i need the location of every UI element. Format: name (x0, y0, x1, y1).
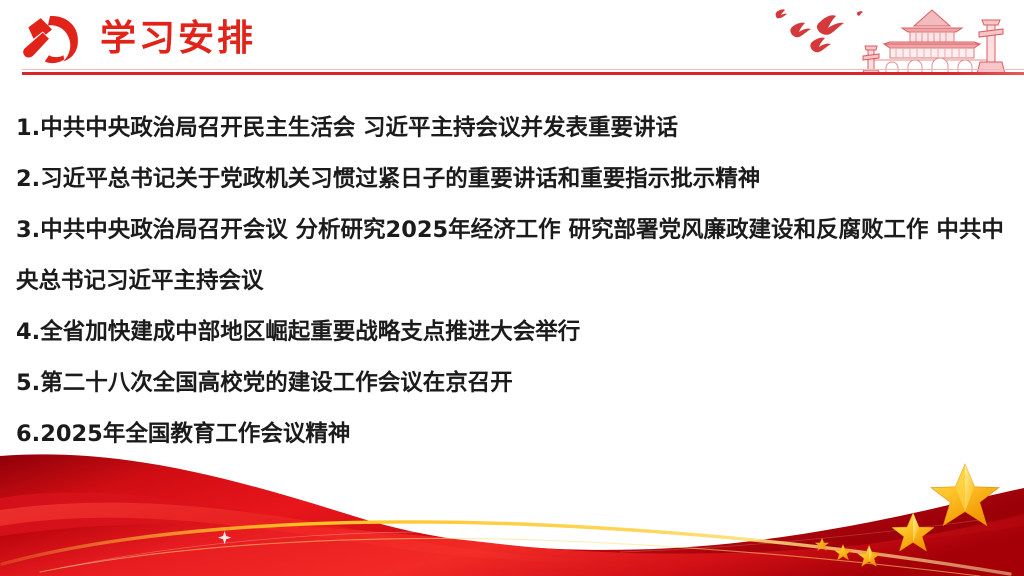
list-item: 4.全省加快建成中部地区崛起重要战略支点推进大会举行 (16, 307, 1016, 358)
header-divider-highlight (22, 69, 1024, 70)
slide-header: 学习安排 (0, 0, 1024, 88)
list-item: 2.习近平总书记关于党政机关习惯过紧日子的重要讲话和重要指示批示精神 (16, 154, 1016, 205)
red-silk-ribbon-icon (0, 440, 1024, 576)
tiananmen-gate-icon (862, 10, 1005, 74)
list-item: 5.第二十八次全国高校党的建设工作会议在京召开 (16, 358, 1016, 409)
party-emblem-hammer-sickle-icon (20, 12, 82, 66)
slide-canvas: 学习安排 (0, 0, 1024, 576)
header-decoration (764, 0, 1024, 76)
list-item: 3.中共中央政治局召开会议 分析研究2025年经济工作 研究部署党风廉政建设和反… (16, 205, 1016, 307)
page-title: 学习安排 (100, 14, 256, 64)
header-divider (22, 72, 1024, 75)
flying-doves-icon (776, 9, 863, 52)
list-item: 1.中共中央政治局召开民主生活会 习近平主持会议并发表重要讲话 (16, 103, 1016, 154)
study-schedule-list: 1.中共中央政治局召开民主生活会 习近平主持会议并发表重要讲话 2.习近平总书记… (16, 103, 1016, 460)
